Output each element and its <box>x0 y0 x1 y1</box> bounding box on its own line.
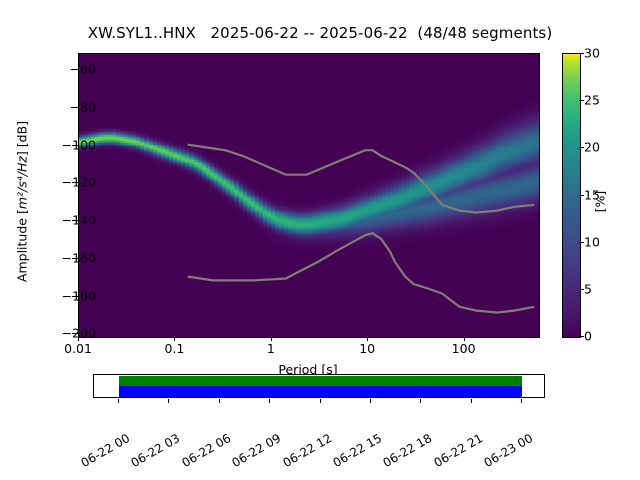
y-tick-label: −120 <box>36 175 96 190</box>
timeline-tick-label: 06-22 03 <box>129 431 183 470</box>
timeline-tick-label: 06-22 21 <box>431 431 485 470</box>
y-tick-label: −60 <box>36 62 96 77</box>
x-tick-label: 100 <box>452 341 476 356</box>
nhnm-curve <box>188 145 535 213</box>
page-title: XW.SYL1..HNX 2025-06-22 -- 2025-06-22 (4… <box>0 24 640 42</box>
colorbar[interactable] <box>562 53 581 338</box>
timeline-tick-label: 06-23 00 <box>482 431 536 470</box>
y-tick-label: −160 <box>36 250 96 265</box>
data-coverage-timeline[interactable] <box>93 374 545 398</box>
colorbar-tick-label: 0 <box>584 329 592 344</box>
y-tick-label: −140 <box>36 213 96 228</box>
y-tick-label: −100 <box>36 137 96 152</box>
timeline-tick-label: 06-22 18 <box>381 431 435 470</box>
timeline-tick-label: 06-22 00 <box>79 431 133 470</box>
timeline-tick-label: 06-22 15 <box>330 431 384 470</box>
x-tick-label: 1 <box>267 341 275 356</box>
colorbar-label: [%] <box>593 142 608 262</box>
y-tick-label: −180 <box>36 288 96 303</box>
peterson-noise-models <box>79 54 539 337</box>
x-tick-label: 0.1 <box>164 341 184 356</box>
y-axis-label-suffix: ] [dB] <box>15 121 30 156</box>
x-tick-label: 0.01 <box>64 341 92 356</box>
coverage-bar-data <box>119 386 522 397</box>
y-axis-label-units: m²/s⁴/Hz <box>15 156 30 209</box>
ppsd-plot-area[interactable] <box>78 53 540 338</box>
y-axis-label-text: Amplitude [ <box>15 209 30 282</box>
colorbar-tick-label: 5 <box>584 281 592 296</box>
timeline-tick-label: 06-22 12 <box>280 431 334 470</box>
nlnm-curve <box>188 233 535 312</box>
timeline-tick-label: 06-22 06 <box>179 431 233 470</box>
coverage-bar-segments <box>119 376 522 386</box>
y-tick-label: −80 <box>36 99 96 114</box>
timeline-tick-label: 06-22 09 <box>230 431 284 470</box>
y-tick-label: −200 <box>36 326 96 341</box>
x-tick-label: 10 <box>359 341 375 356</box>
colorbar-tick-label: 30 <box>584 46 600 61</box>
y-axis-label: Amplitude [m²/s⁴/Hz] [dB] <box>15 52 30 352</box>
colorbar-tick-label: 25 <box>584 93 600 108</box>
